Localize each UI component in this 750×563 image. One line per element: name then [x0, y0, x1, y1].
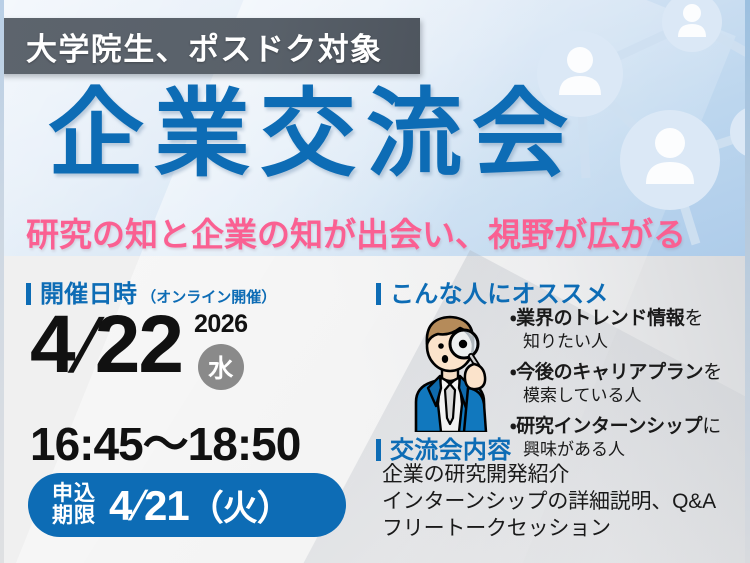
recommend-item-line2: 模索している人 [523, 385, 748, 406]
event-time: 16:45〜18:50 [30, 408, 300, 474]
recommend-item-bold: 業界のトレンド情報 [516, 308, 684, 329]
recommend-list: ・業界のトレンド情報を 知りたい人 ・今後のキャリアプランを 模索している人 ・… [510, 308, 748, 470]
application-deadline-badge: 申込 期限 4 / 21 （火） [28, 473, 346, 537]
list-item: インターンシップの詳細説明、Q&A [382, 489, 742, 516]
businessman-magnifier-icon [396, 306, 508, 432]
list-item: ・業界のトレンド情報を 知りたい人 [510, 308, 748, 352]
event-day-of-week-badge: 水 [198, 344, 244, 390]
deadline-date: 4 / 21 （火） [109, 480, 291, 531]
page-title: 企業交流会 [48, 86, 708, 184]
list-item: ・今後のキャリアプランを 模索している人 [510, 362, 748, 406]
list-item: ・研究インターンシップに 興味がある人 [510, 416, 748, 460]
deadline-label: 申込 期限 [52, 483, 96, 527]
list-item: フリートークセッション [382, 516, 742, 543]
recommend-item-line1: ・今後のキャリアプランを [510, 362, 748, 385]
recommend-heading-label: こんな人にオススメ [390, 274, 609, 309]
deadline-day-of-week: （火） [189, 480, 291, 531]
recommend-item-tail: を [703, 362, 722, 383]
recommend-item-bold: 研究インターンシップ [516, 416, 702, 437]
deadline-label-line2: 期限 [52, 505, 96, 527]
deadline-label-line1: 申込 [52, 483, 96, 505]
recommend-item-line2: 知りたい人 [523, 331, 748, 352]
event-date: 4 / 22 2026 水 [30, 306, 248, 390]
page-subtitle: 研究の知と企業の知が出会い、視野が広がる [26, 208, 732, 256]
recommend-item-bold: 今後のキャリアプラン [516, 362, 703, 383]
list-item: 企業の研究開発紹介 [382, 462, 742, 489]
recommend-section-heading: こんな人にオススメ [376, 274, 609, 309]
event-poster: 大学院生、ポスドク対象 企業交流会 研究の知と企業の知が出会い、視野が広がる 開… [0, 0, 750, 563]
event-date-main: 4 / 22 [30, 306, 182, 383]
recommend-item-tail: を [684, 308, 703, 329]
right-edge-strip [745, 0, 750, 563]
heading-accent-bar [376, 439, 381, 461]
content-section-heading: 交流会内容 [376, 430, 512, 465]
audience-banner-text: 大学院生、ポスドク対象 [26, 24, 382, 69]
recommend-item-line1: ・業界のトレンド情報を [510, 308, 748, 331]
recommend-item-tail: に [702, 416, 721, 437]
event-year: 2026 [194, 312, 248, 337]
event-date-side: 2026 水 [194, 306, 248, 390]
left-edge-strip [0, 0, 4, 563]
content-list: 企業の研究開発紹介 インターンシップの詳細説明、Q&A フリートークセッション [382, 462, 742, 543]
recommend-item-line1: ・研究インターンシップに [510, 416, 748, 439]
heading-accent-bar [376, 283, 381, 305]
recommend-item-line2: 興味がある人 [523, 439, 748, 460]
deadline-day: 21 [144, 482, 189, 530]
audience-banner: 大学院生、ポスドク対象 [0, 18, 420, 74]
event-day: 22 [95, 306, 182, 383]
content-heading-label: 交流会内容 [390, 430, 512, 465]
